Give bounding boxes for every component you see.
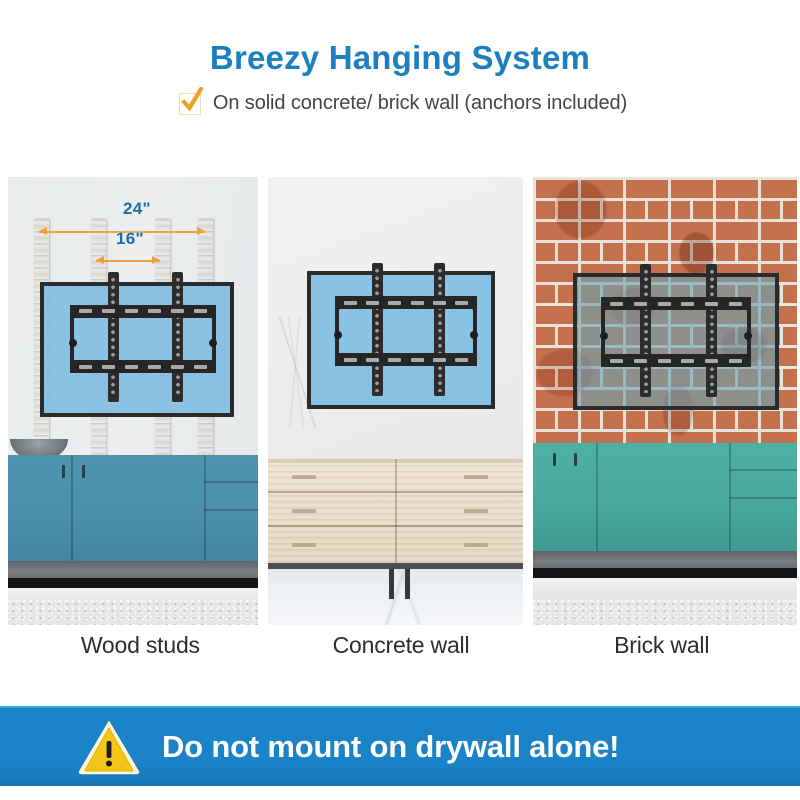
carpet-rug: [533, 599, 797, 625]
tv-mount-bracket: [335, 263, 477, 396]
warning-text: Do not mount on drywall alone!: [162, 729, 619, 765]
caption-brick-wall: Brick wall: [531, 632, 800, 684]
bracket-slot-rail-top: [70, 305, 216, 318]
page-title: Breezy Hanging System: [0, 40, 800, 76]
caption-wood-studs: Wood studs: [0, 632, 271, 684]
cabinet-shadow-band: [533, 568, 797, 578]
dresser-base: [268, 563, 523, 569]
dimension-arrow-16: [96, 255, 160, 266]
bracket-knob: [69, 339, 77, 347]
dresser-leg: [405, 569, 410, 599]
tv-mount-bracket: [601, 264, 751, 397]
sideboard-cabinet: [533, 443, 797, 551]
carpet-rug: [8, 599, 258, 625]
warning-triangle-icon: [78, 719, 140, 775]
panel-wood-studs: 24" 16": [8, 177, 258, 625]
dresser-leg: [389, 569, 394, 599]
panel-captions: Wood studs Concrete wall Brick wall: [0, 632, 800, 684]
bracket-knob: [334, 331, 342, 339]
panel-concrete-wall: [268, 177, 523, 625]
bracket-slot-rail-bottom: [335, 353, 477, 366]
subtitle-text: On solid concrete/ brick wall (anchors i…: [213, 92, 627, 115]
dimension-label-24: 24": [123, 199, 151, 219]
floor: [268, 569, 523, 625]
bracket-knob: [600, 332, 608, 340]
bracket-slot-rail-top: [601, 297, 751, 310]
cabinet-shadow-band: [8, 578, 258, 588]
cabinet-plinth: [8, 561, 258, 578]
sideboard-cabinet: [8, 455, 258, 561]
floor: [533, 578, 797, 625]
bottom-strip: [0, 786, 800, 800]
check-glyph: [181, 87, 203, 113]
wood-dresser: [268, 459, 523, 563]
bracket-slot-rail-bottom: [70, 360, 216, 373]
bracket-knob: [209, 339, 217, 347]
tv-mount-bracket: [70, 272, 216, 402]
header: Breezy Hanging System On solid concrete/…: [0, 0, 800, 115]
panel-gallery: 24" 16": [8, 177, 797, 625]
bracket-knob: [744, 332, 752, 340]
caption-concrete-wall: Concrete wall: [271, 632, 532, 684]
subtitle-row: On solid concrete/ brick wall (anchors i…: [0, 92, 800, 115]
bracket-knob: [470, 331, 478, 339]
warning-banner: Do not mount on drywall alone!: [0, 708, 800, 786]
orange-check-icon: [179, 93, 201, 115]
bracket-slot-rail-top: [335, 296, 477, 309]
dimension-label-16: 16": [116, 229, 144, 249]
bracket-slot-rail-bottom: [601, 354, 751, 367]
cabinet-plinth: [533, 551, 797, 568]
panel-brick-wall: [533, 177, 797, 625]
floor: [8, 588, 258, 625]
